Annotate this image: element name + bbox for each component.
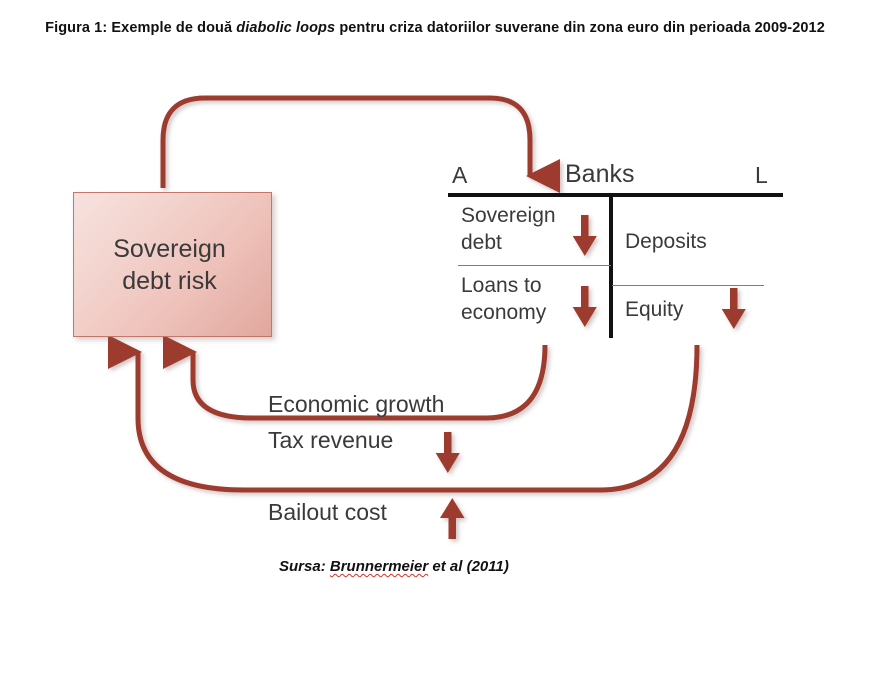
t-account-title: Banks [565,160,634,189]
diabolic-loop-diagram: Sovereign debt risk A Banks L Sovereign … [0,0,870,673]
t-account-assets-header: A [452,162,467,189]
t-account-liability-separator [612,285,764,286]
source-note-misspelled-word: Brunnermeier [330,558,428,575]
indicator-up-arrow-bailout-cost [440,498,465,539]
banks-t-account: A Banks L Sovereign debt Loans to econom… [440,158,785,348]
flow-label-economic-growth: Economic growth [268,391,444,418]
source-note-suffix: et al (2011) [428,558,509,575]
sovereign-debt-risk-label: Sovereign debt risk [113,233,232,297]
sovereign-debt-risk-box[interactable]: Sovereign debt risk [73,192,272,337]
t-account-item-loans-to-economy: Loans to economy [461,272,546,327]
t-account-top-rule [448,193,783,197]
t-account-liabilities-header: L [755,162,768,189]
t-account-item-deposits: Deposits [625,228,707,255]
flow-label-tax-revenue: Tax revenue [268,427,393,454]
flow-label-bailout-cost: Bailout cost [268,499,387,526]
indicator-down-arrow-tax-revenue [436,432,460,473]
source-note: Sursa: Brunnermeier et al (2011) [279,558,509,575]
t-account-asset-separator [458,265,611,266]
t-account-item-equity: Equity [625,296,683,323]
source-note-prefix: Sursa: [279,558,330,575]
t-account-item-sovereign-debt: Sovereign debt [461,202,556,257]
